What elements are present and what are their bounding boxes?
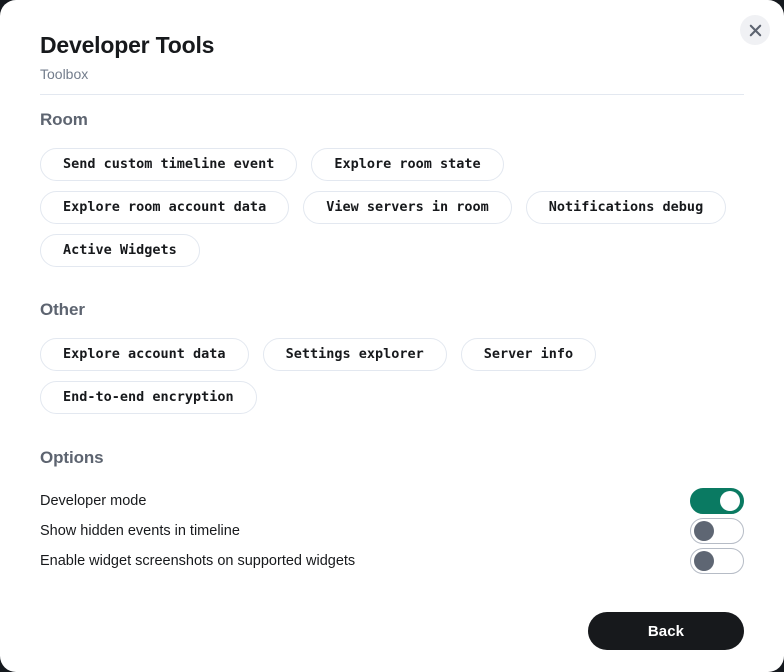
section-heading-room: Room bbox=[40, 108, 744, 132]
dialog-body: Room Send custom timeline event Explore … bbox=[40, 108, 744, 576]
option-label-show-hidden-events: Show hidden events in timeline bbox=[40, 521, 240, 541]
close-icon-button[interactable] bbox=[740, 15, 770, 45]
toggle-developer-mode[interactable] bbox=[690, 488, 744, 514]
option-row-widget-screenshots: Enable widget screenshots on supported w… bbox=[40, 546, 744, 576]
button-explore-account-data[interactable]: Explore account data bbox=[40, 338, 249, 371]
button-view-servers-in-room[interactable]: View servers in room bbox=[303, 191, 512, 224]
other-button-group: Explore account data Settings explorer S… bbox=[40, 338, 744, 414]
back-button[interactable]: Back bbox=[588, 612, 744, 650]
toggle-knob bbox=[694, 521, 714, 541]
section-heading-options: Options bbox=[40, 446, 744, 470]
option-label-developer-mode: Developer mode bbox=[40, 491, 146, 511]
section-room: Room Send custom timeline event Explore … bbox=[40, 108, 744, 267]
option-label-widget-screenshots: Enable widget screenshots on supported w… bbox=[40, 551, 355, 571]
button-active-widgets[interactable]: Active Widgets bbox=[40, 234, 200, 267]
button-send-custom-timeline-event[interactable]: Send custom timeline event bbox=[40, 148, 297, 181]
option-row-developer-mode: Developer mode bbox=[40, 486, 744, 516]
button-explore-room-state[interactable]: Explore room state bbox=[311, 148, 503, 181]
room-button-group: Send custom timeline event Explore room … bbox=[40, 148, 744, 267]
developer-tools-dialog: Developer Tools Toolbox Room Send custom… bbox=[0, 0, 784, 672]
close-icon bbox=[749, 24, 762, 37]
dialog-header: Developer Tools Toolbox bbox=[40, 30, 744, 95]
button-settings-explorer[interactable]: Settings explorer bbox=[263, 338, 447, 371]
page-title: Developer Tools bbox=[40, 30, 744, 60]
toggle-widget-screenshots[interactable] bbox=[690, 548, 744, 574]
dialog-footer: Back bbox=[588, 612, 744, 650]
option-row-show-hidden-events: Show hidden events in timeline bbox=[40, 516, 744, 546]
section-other: Other Explore account data Settings expl… bbox=[40, 298, 744, 414]
dialog-subtitle: Toolbox bbox=[40, 64, 744, 84]
toggle-knob bbox=[694, 551, 714, 571]
toggle-show-hidden-events[interactable] bbox=[690, 518, 744, 544]
options-list: Developer mode Show hidden events in tim… bbox=[40, 486, 744, 576]
section-options: Options Developer mode Show hidden event… bbox=[40, 446, 744, 576]
button-notifications-debug[interactable]: Notifications debug bbox=[526, 191, 726, 224]
toggle-knob bbox=[720, 491, 740, 511]
header-divider bbox=[40, 94, 744, 95]
button-server-info[interactable]: Server info bbox=[461, 338, 596, 371]
button-explore-room-account-data[interactable]: Explore room account data bbox=[40, 191, 289, 224]
button-end-to-end-encryption[interactable]: End-to-end encryption bbox=[40, 381, 257, 414]
section-heading-other: Other bbox=[40, 298, 744, 322]
